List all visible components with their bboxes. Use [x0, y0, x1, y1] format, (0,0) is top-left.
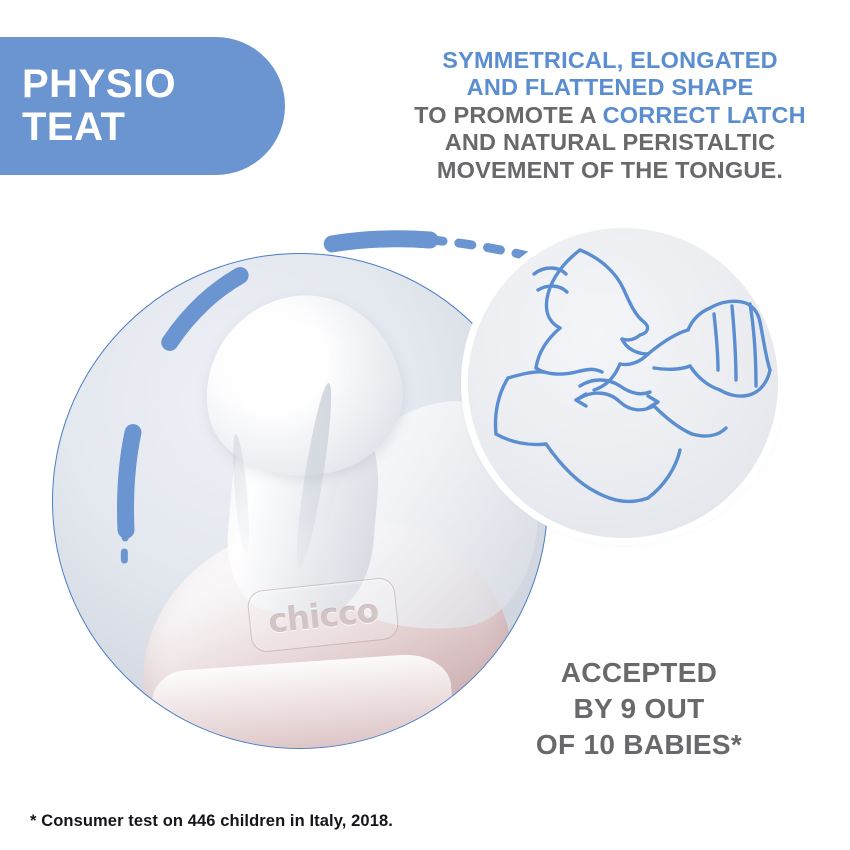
headline-line-3: TO PROMOTE A CORRECT LATCH: [392, 102, 828, 129]
headline-line-3-gray: TO PROMOTE A: [414, 102, 602, 128]
badge-line-physio: PHYSIO: [22, 63, 285, 106]
accepted-claim-block: ACCEPTED BY 9 OUT OF 10 BABIES*: [489, 655, 789, 762]
infographic-page: PHYSIO TEAT SYMMETRICAL, ELONGATED AND F…: [0, 0, 850, 850]
headline-line-2: AND FLATTENED SHAPE: [392, 74, 828, 101]
accepted-line-3: OF 10 BABIES*: [489, 727, 789, 763]
headline-line-4: AND NATURAL PERISTALTIC: [392, 129, 828, 156]
chicco-brand-logo: chicco: [266, 590, 380, 640]
physio-teat-badge: PHYSIO TEAT: [0, 37, 285, 175]
headline-line-1: SYMMETRICAL, ELONGATED: [392, 47, 828, 74]
headline-block: SYMMETRICAL, ELONGATED AND FLATTENED SHA…: [392, 47, 828, 184]
headline-line-5: MOVEMENT OF THE TONGUE.: [392, 157, 828, 184]
baby-bottle-feeding-line-art-icon: [468, 228, 778, 538]
footnote-text: * Consumer test on 446 children in Italy…: [30, 812, 393, 831]
accepted-line-1: ACCEPTED: [489, 655, 789, 691]
accepted-line-2: BY 9 OUT: [489, 691, 789, 727]
feeding-illustration-circle: [468, 228, 778, 538]
headline-line-3-blue: CORRECT LATCH: [603, 102, 806, 128]
badge-line-teat: TEAT: [22, 106, 285, 149]
